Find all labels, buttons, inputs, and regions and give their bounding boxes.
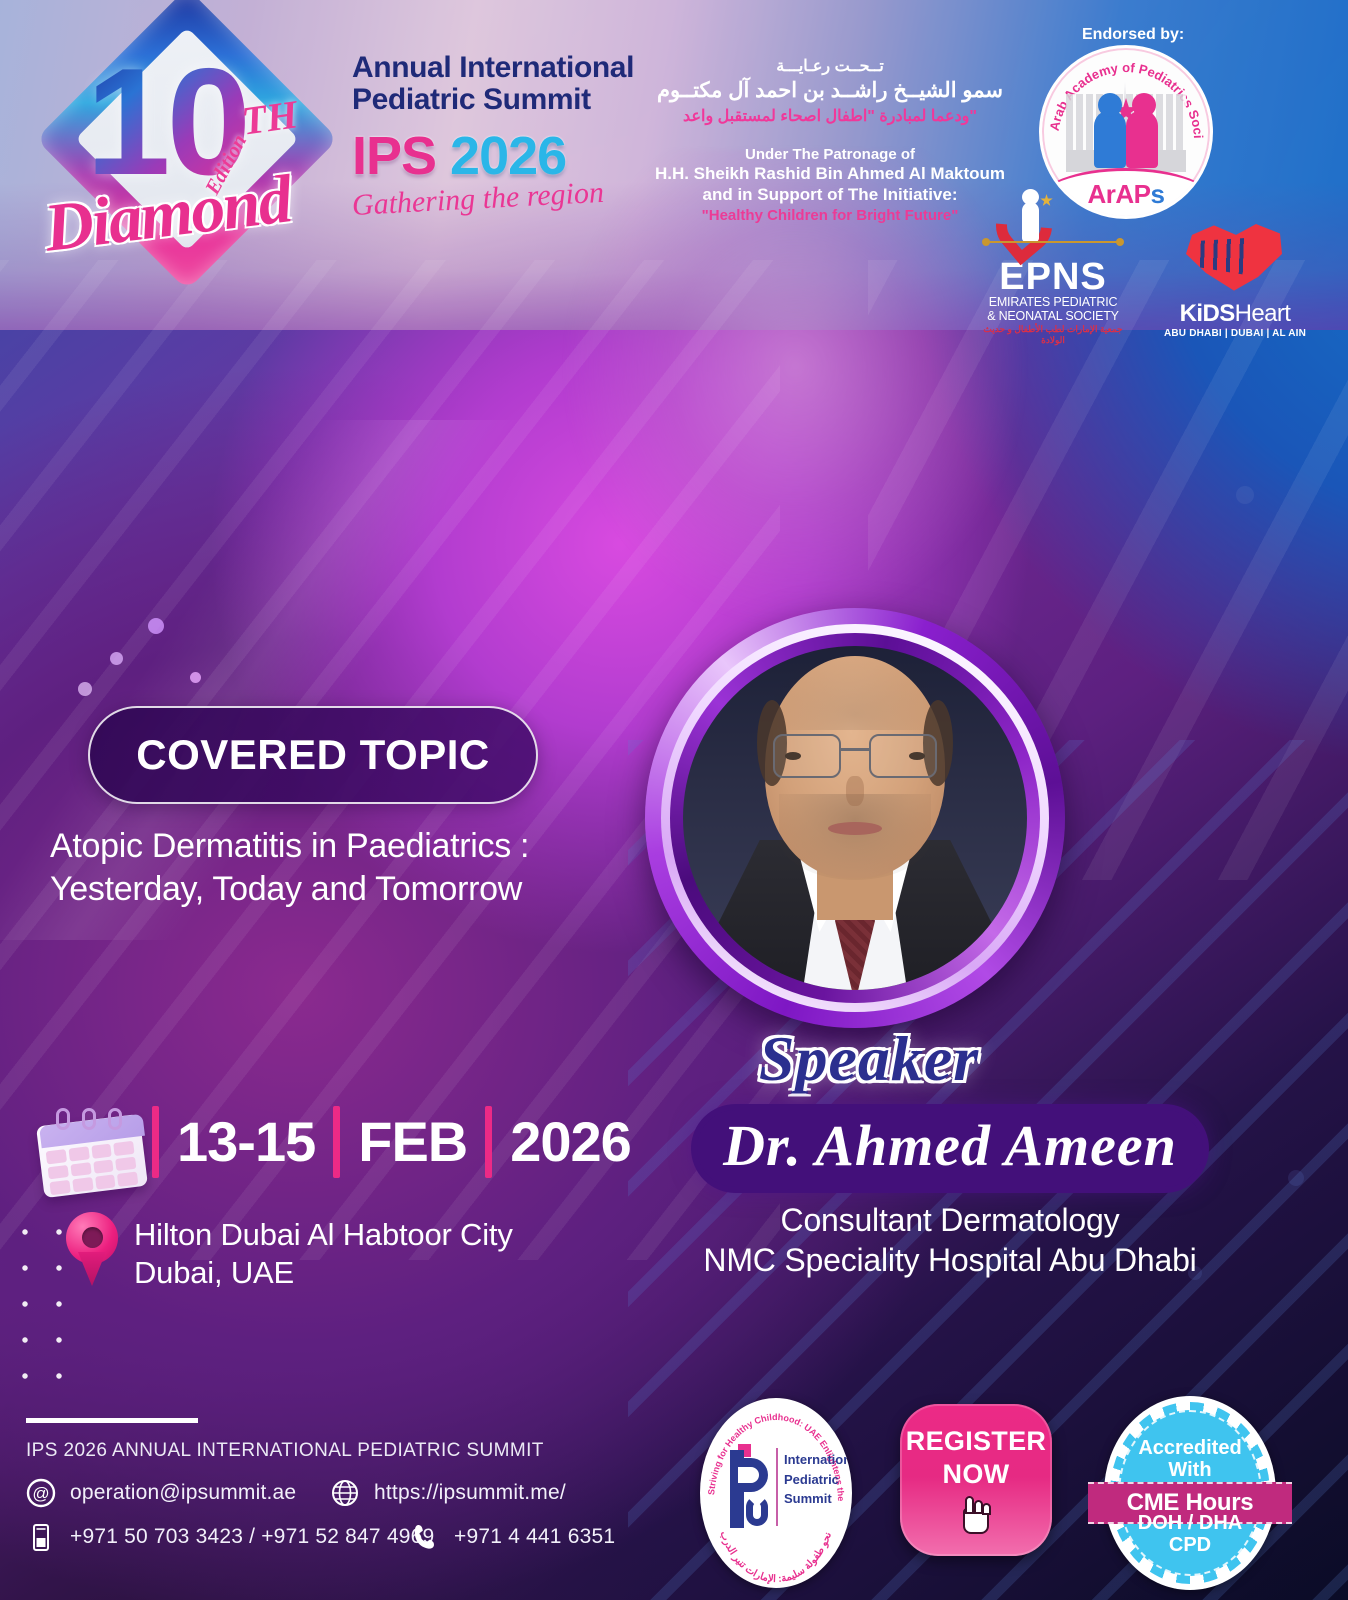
event-date-row: 13-15 FEB 2026 [152,1106,649,1178]
araps-acronym-part-b: s [1151,179,1165,209]
ordinal-suffix: TH [239,90,301,144]
footer-mobile[interactable]: +971 50 703 3423 / +971 52 847 4969 [70,1525,434,1549]
ips-seal-line-2: Pediatric [784,1470,852,1490]
hand-finger [965,1496,974,1514]
poster-canvas: 10 10 TH Edition Diamond Annual Internat… [0,0,1348,1600]
hair [763,652,947,730]
footer-summit-name: IPS 2026 ANNUAL INTERNATIONAL PEDIATRIC … [26,1440,544,1462]
epns-name-line-2: & NEONATAL SOCIETY [978,310,1128,324]
ips-monogram-icon [724,1450,770,1530]
speaker-photo [683,646,1027,990]
speaker-role: Consultant Dermatology NMC Speciality Ho… [620,1200,1280,1280]
anniversary-logo: 10 10 TH Edition Diamond [34,22,334,280]
date-divider [333,1106,340,1178]
bokeh-dot [190,672,201,683]
venue-line-2: Dubai, UAE [134,1254,513,1292]
footer-email-row[interactable]: @ operation@ipsummit.ae [26,1478,296,1508]
ecg-dot-right-icon [1116,238,1124,246]
summit-title-block: Annual International Pediatric Summit IP… [352,52,642,223]
glasses-bridge [841,748,869,751]
araps-child-pink-icon [1126,110,1158,168]
cme-line-2: With [1104,1460,1276,1482]
kidsheart-hand-heart-icon [1182,216,1288,300]
speaker-name: Dr. Ahmed Ameen [697,1110,1203,1187]
patronage-english-line-1: Under The Patronage of [640,146,1020,163]
speaker-role-line-1: Consultant Dermatology [620,1200,1280,1240]
speaker-role-line-2: NMC Speciality Hospital Abu Dhabi [620,1240,1280,1280]
patronage-arabic-line-1: تــحــت رعـايـــة [640,56,1020,76]
footer-website[interactable]: https://ipsummit.me/ [374,1481,566,1505]
footer-divider [26,1418,198,1423]
nose [846,776,864,806]
covered-topic-text: Atopic Dermatitis in Paediatrics : Yeste… [50,825,670,911]
ips-acronym: IPS [352,125,436,187]
title-line-2: Pediatric Summit [352,84,642,116]
venue-line-1: Hilton Dubai Al Habtoor City [134,1216,513,1254]
register-label-line-2: NOW [943,1459,1010,1490]
calendar-ring [108,1108,122,1130]
epns-symbol [978,196,1128,258]
pointing-hand-cursor-icon [959,1496,993,1536]
at-sign-icon: @ [26,1478,56,1508]
ips-year: 2026 [450,125,566,187]
speaker-name-wrap: Dr. Ahmed Ameen [640,1110,1260,1187]
araps-child-blue-icon [1094,110,1126,168]
patronage-initiative-quote: "Healthy Children for Bright Future" [640,207,1020,224]
register-label-line-1: REGISTER [906,1426,1046,1457]
footer-telephone[interactable]: +971 4 441 6351 [454,1525,615,1549]
date-divider [485,1106,492,1178]
ecg-line-icon [988,241,1118,243]
epns-name-arabic: جمعية الإمارات لطب الأطفال و حديث الولاد… [978,324,1128,346]
pin-tail [78,1252,106,1286]
ips-seal-words: International Pediatric Summit [784,1450,852,1509]
globe-icon [330,1478,360,1508]
beard-shadow [779,794,931,880]
phone-handset-icon [410,1522,440,1552]
cme-line-3: DOH / DHA [1104,1512,1276,1534]
eyeglasses-icon [773,734,937,780]
patronage-english-line-2: H.H. Sheikh Rashid Bin Ahmed Al Maktoum [640,164,1020,184]
patronage-arabic-line-3: ودعما لمبادرة "اطفال اصحاء لمستقبل واعد" [640,106,1020,126]
kidsheart-name-light: Heart [1235,300,1291,327]
event-month: FEB [340,1106,485,1178]
kidsheart-name-bold: KiDS [1180,300,1235,327]
speaker-face [743,656,967,956]
ips-letter-p-bowl [738,1458,768,1492]
ips-letter-s [746,1496,768,1526]
patronage-english-line-3: and in Support of The Initiative: [640,185,1020,205]
epns-logo: EPNS EMIRATES PEDIATRIC & NEONATAL SOCIE… [978,196,1128,346]
speaker-label: Speaker [195,1022,1348,1096]
footer-website-row[interactable]: https://ipsummit.me/ [330,1478,566,1508]
cme-accredited-text: Accredited With [1104,1438,1276,1481]
endorsed-by-label: Endorsed by: [1082,26,1184,44]
ips-seal-divider [776,1448,778,1526]
bokeh-dot [1288,1170,1304,1186]
bokeh-dot [110,652,123,665]
epns-acronym: EPNS [978,258,1128,296]
ips-seal-line-1: International [784,1450,852,1470]
event-venue: Hilton Dubai Al Habtoor City Dubai, UAE [64,1212,513,1293]
event-days: 13-15 [159,1106,333,1178]
venue-text: Hilton Dubai Al Habtoor City Dubai, UAE [134,1212,513,1293]
patronage-arabic-line-2: سمو الشيــخ راشــد بن احمد آل مكتــوم [640,78,1020,103]
footer-email[interactable]: operation@ipsummit.ae [70,1481,296,1505]
cme-accreditation-badge: Accredited With CME Hours DOH / DHA CPD [1104,1396,1276,1590]
hand-finger [982,1503,991,1515]
cme-authority-text: DOH / DHA CPD [1104,1512,1276,1556]
mobile-phone-icon [26,1522,56,1552]
covered-topic-line-1: Atopic Dermatitis in Paediatrics : [50,825,670,868]
cme-line-1: Accredited [1104,1438,1276,1460]
calendar-ring [82,1108,96,1130]
calendar-ring [56,1108,70,1130]
kidsheart-logo: KiDSHeart ABU DHABI | DUBAI | AL AIN [1160,216,1310,339]
title-line-1: Annual International [352,52,642,84]
mouth [828,822,882,835]
cme-line-4: CPD [1104,1534,1276,1556]
lens-right [869,734,937,778]
location-pin-icon [64,1212,120,1286]
bokeh-dot [78,682,92,696]
kidsheart-cities: ABU DHABI | DUBAI | AL AIN [1160,328,1310,339]
covered-topic-line-2: Yesterday, Today and Tomorrow [50,868,670,911]
svg-text:@: @ [32,1484,49,1503]
ips-seal-line-3: Summit [784,1489,852,1509]
bokeh-dot [1236,486,1254,504]
bokeh-dot [148,618,164,634]
lens-left [773,734,841,778]
footer-mobile-row[interactable]: +971 50 703 3423 / +971 52 847 4969 [26,1522,434,1552]
calendar-icon [34,1098,150,1198]
date-divider [152,1106,159,1178]
epns-name-line-1: EMIRATES PEDIATRIC [978,296,1128,310]
araps-logo: Arab Academy of Pediatrics Society ArAPs [1042,48,1210,216]
register-now-button[interactable]: REGISTER NOW [900,1404,1052,1556]
covered-topic-label: COVERED TOPIC [136,731,489,779]
speaker-portrait [645,608,1065,1028]
event-year: 2026 [492,1106,649,1178]
svg-text:نحو طفولة سليمة: الإمارات تنير: نحو طفولة سليمة: الإمارات تنير الدرب [718,1530,834,1585]
child-figure-icon [1022,202,1039,242]
patronage-block: تــحــت رعـايـــة سمو الشيــخ راشــد بن … [640,56,1020,224]
ips-summit-seal-logo: Striving for Healthy Childhood: UAE Enli… [700,1398,852,1588]
covered-topic-pill: COVERED TOPIC [88,706,538,804]
ecg-dot-left-icon [982,238,990,246]
decorative-dot-grid [8,1214,66,1394]
kidsheart-wordmark: KiDSHeart [1160,300,1310,328]
footer-telephone-row[interactable]: +971 4 441 6351 [410,1522,615,1552]
